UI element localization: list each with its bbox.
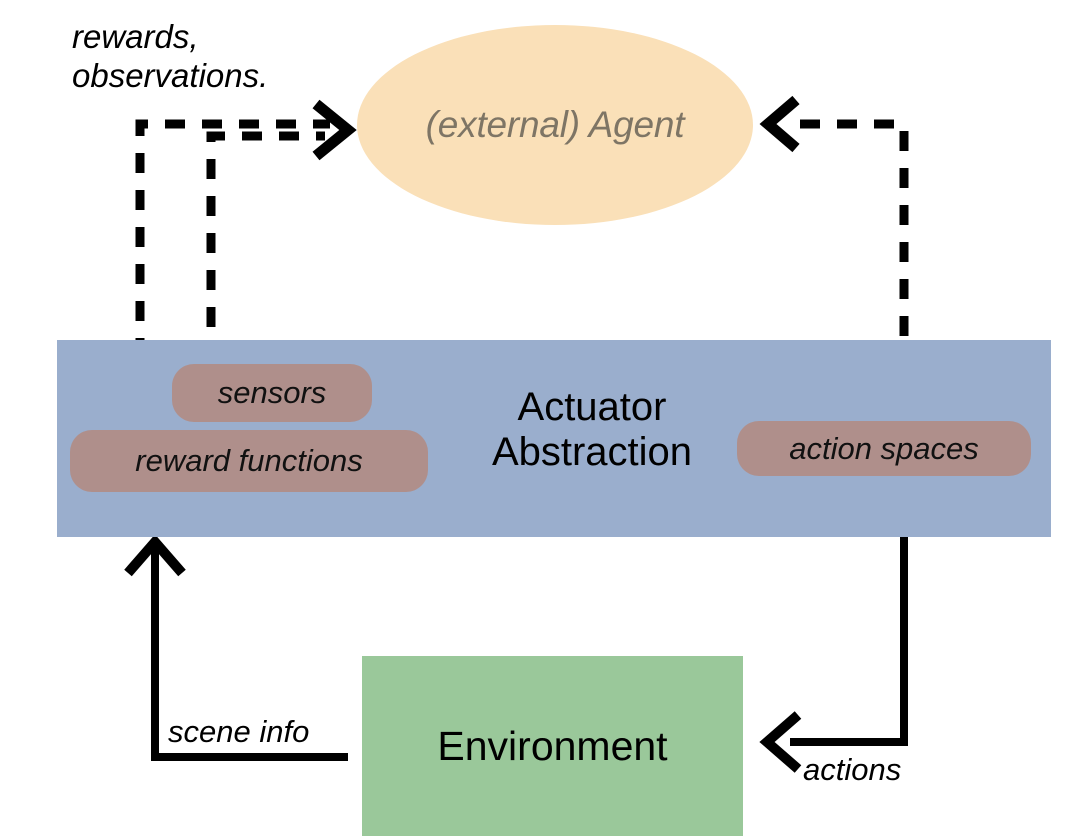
abstraction-title-line1: Actuator — [457, 385, 727, 430]
edge-sensors-to-agent — [211, 136, 325, 364]
label-observations: observations. — [72, 57, 268, 96]
label-scene-info: scene info — [168, 714, 309, 751]
pill-action-spaces-label: action spaces — [789, 431, 979, 467]
agent-label: (external) Agent — [357, 25, 753, 225]
pill-sensors-label: sensors — [218, 375, 327, 411]
pill-reward-functions-label: reward functions — [135, 443, 362, 479]
label-rewards: rewards, — [72, 18, 268, 57]
environment-label: Environment — [362, 656, 743, 836]
label-rewards-observations: rewards, observations. — [72, 18, 268, 96]
pill-sensors[interactable]: sensors — [172, 364, 372, 422]
arrowhead-into-agent-right — [768, 100, 796, 148]
abstraction-title: Actuator Abstraction — [457, 385, 727, 475]
arrowhead-into-agent-left — [316, 104, 348, 156]
label-actions: actions — [803, 752, 901, 789]
abstraction-title-line2: Abstraction — [457, 430, 727, 475]
pill-action-spaces[interactable]: action spaces — [737, 421, 1031, 476]
pill-reward-functions[interactable]: reward functions — [70, 430, 428, 492]
diagram-canvas: Actuator Abstraction sensors reward func… — [0, 0, 1091, 836]
